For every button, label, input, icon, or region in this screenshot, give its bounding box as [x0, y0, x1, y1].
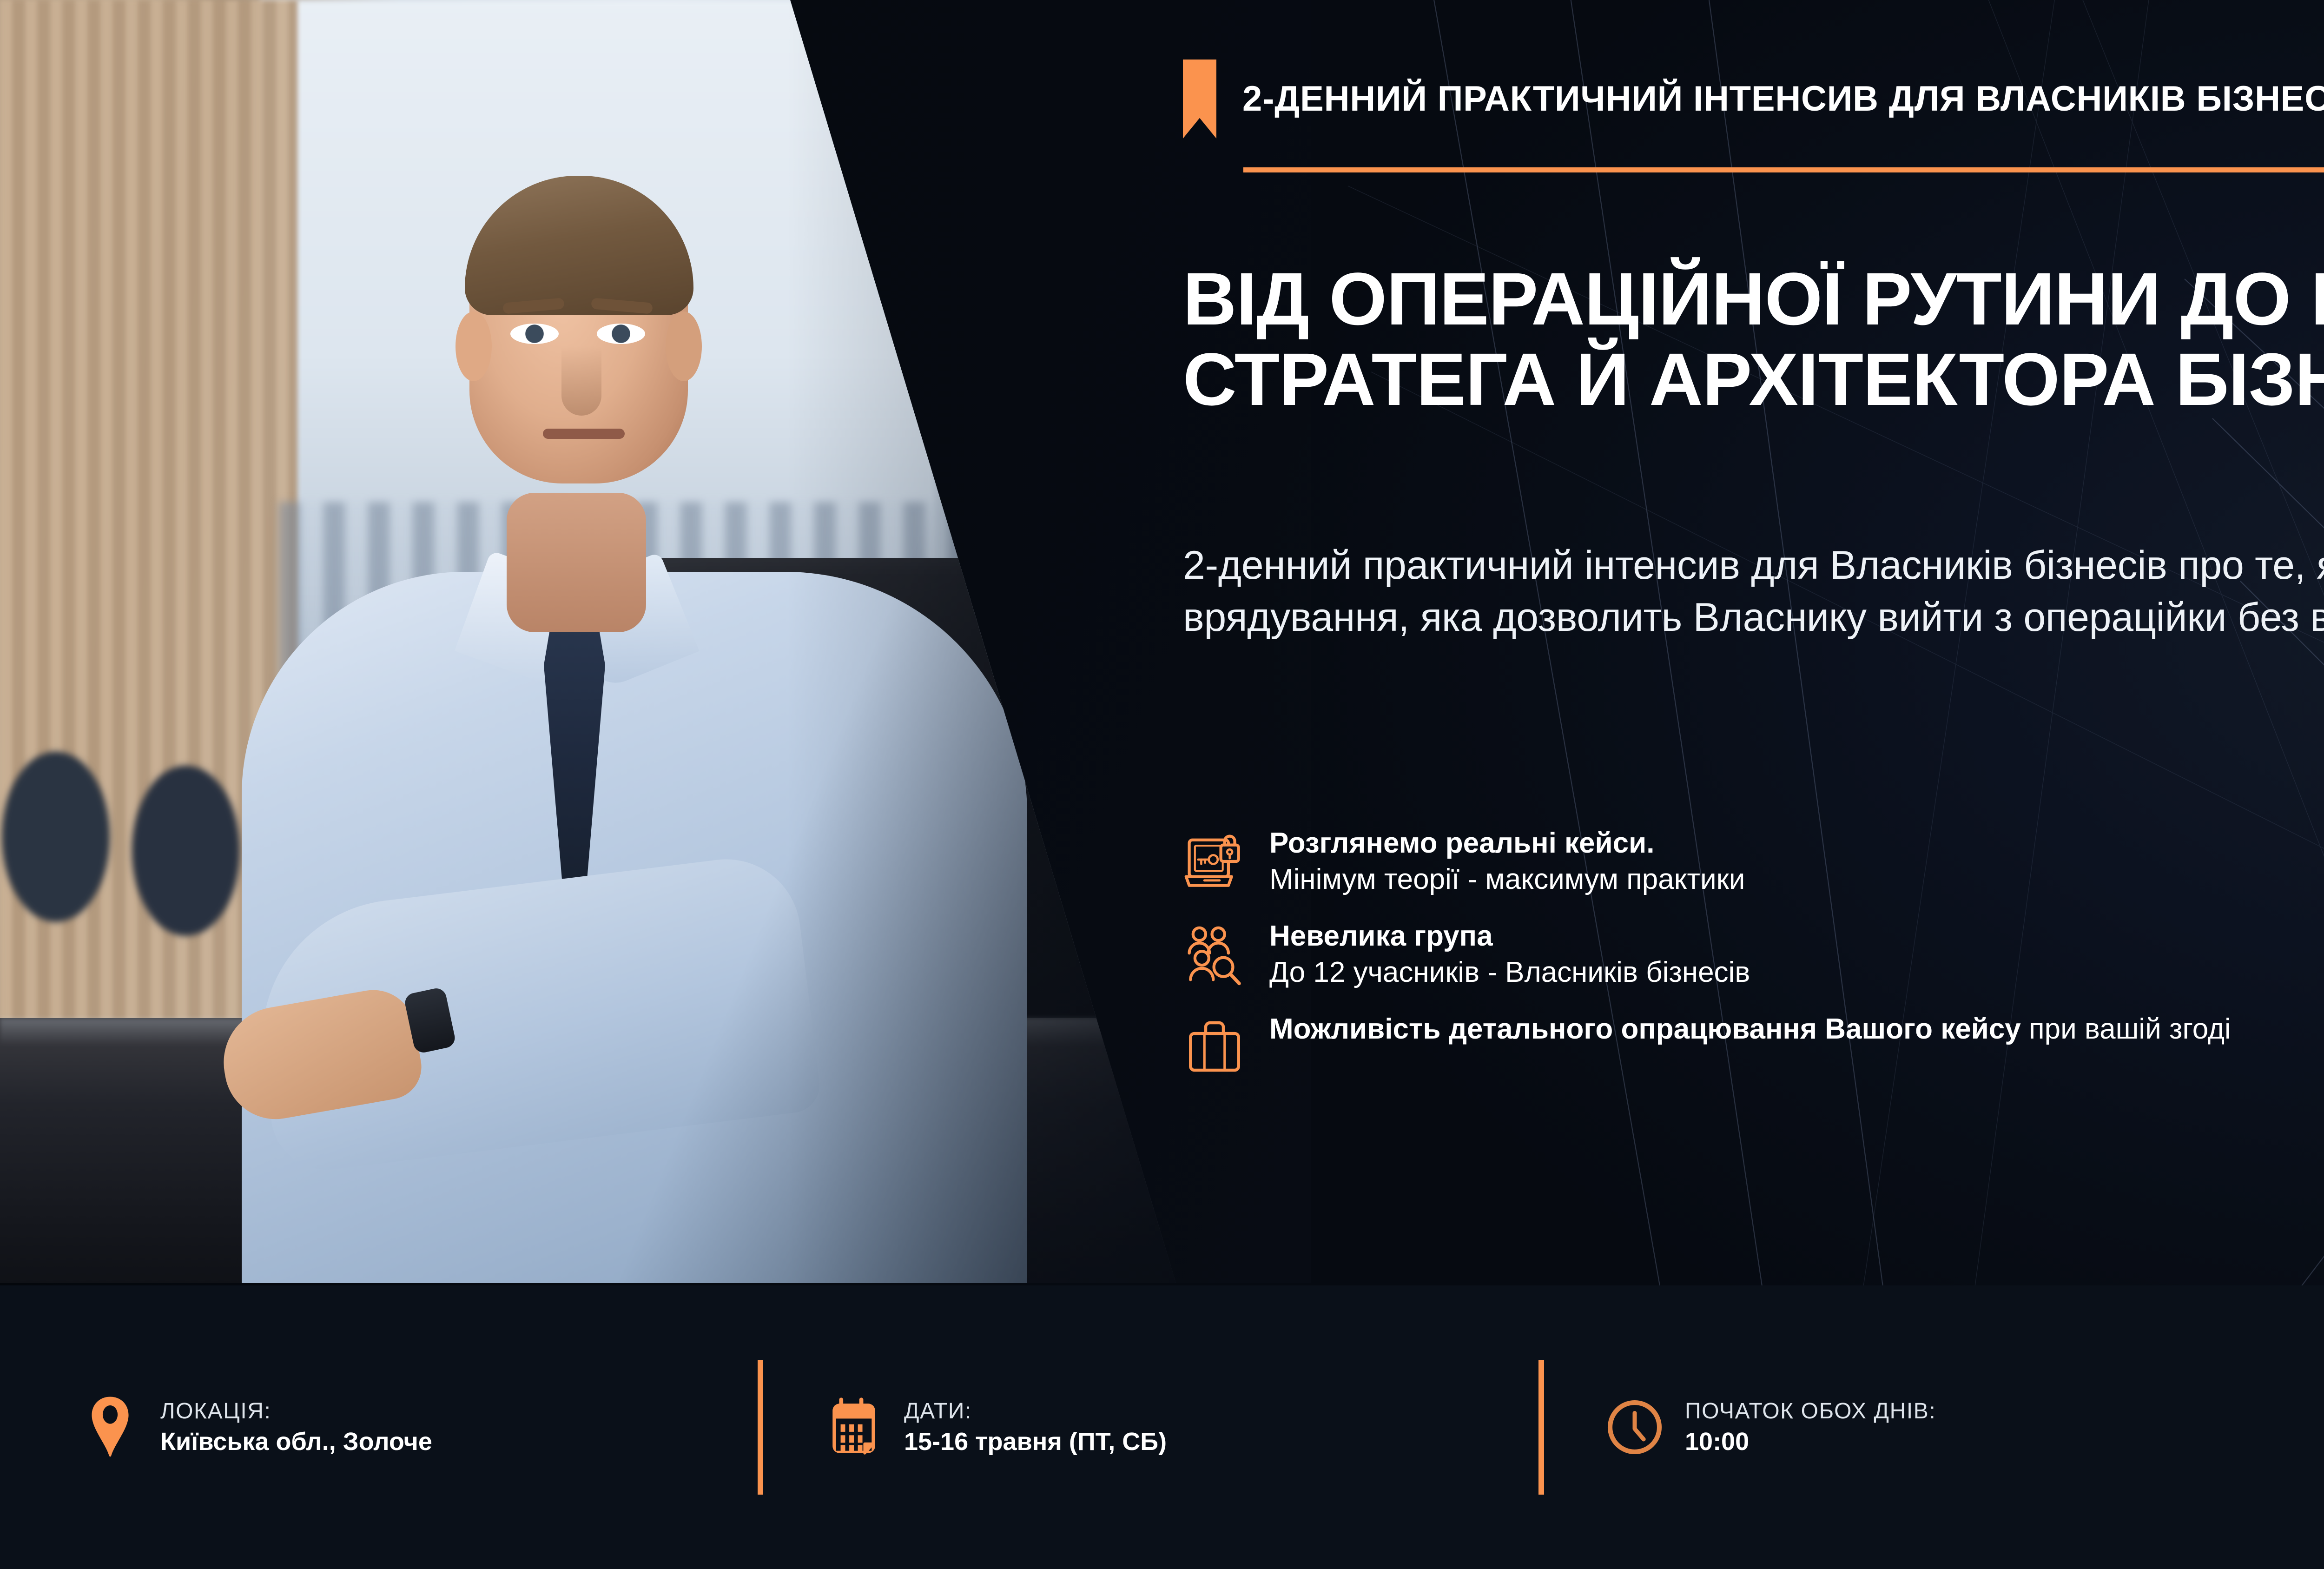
- feature-text: Можливість детального опрацювання Вашого…: [1269, 1011, 2231, 1047]
- footer-bar: ЛОКАЦІЯ: Київська обл., Золоче: [0, 1285, 2324, 1569]
- feature-title: Можливість детального опрацювання Вашого…: [1269, 1013, 2021, 1045]
- lede-paragraph: 2-денний практичний інтенсив для Власник…: [1183, 540, 2324, 644]
- footer-divider: [1538, 1360, 1544, 1495]
- feature-item: Розглянемо реальні кейси. Мінімум теорії…: [1183, 825, 2324, 898]
- feature-item: Можливість детального опрацювання Вашого…: [1183, 1011, 2324, 1079]
- headline-line-2: СТРАТЕГА Й АРХІТЕКТОРА БІЗНЕСУ: [1183, 339, 2324, 420]
- location-pin-icon: [81, 1396, 139, 1459]
- meta-label: ДАТИ:: [904, 1400, 1167, 1423]
- meta-value: Київська обл., Золоче: [160, 1429, 432, 1454]
- meta-label: ЛОКАЦІЯ:: [160, 1400, 432, 1423]
- content-column: 2-ДЕННИЙ ПРАКТИЧНИЙ ІНТЕНСИВ ДЛЯ ВЛАСНИК…: [1183, 0, 2324, 1288]
- feature-title: Розглянемо реальні кейси.: [1269, 827, 1654, 859]
- feature-list: Розглянемо реальні кейси. Мінімум теорії…: [1183, 825, 2324, 1079]
- meta-value: 15-16 травня (ПТ, СБ): [904, 1429, 1167, 1454]
- meta-dates: ДАТИ: 15-16 травня (ПТ, СБ): [825, 1285, 1167, 1569]
- footer-divider: [758, 1360, 763, 1495]
- eyebrow: 2-ДЕННИЙ ПРАКТИЧНИЙ ІНТЕНСИВ ДЛЯ ВЛАСНИК…: [1183, 60, 2324, 139]
- briefcase-icon: [1183, 1016, 1246, 1079]
- feature-item: Невелика група До 12 учасників - Власник…: [1183, 918, 2324, 991]
- meta-value: 10:00: [1685, 1429, 1936, 1454]
- feature-text: Розглянемо реальні кейси. Мінімум теорії…: [1269, 825, 1745, 898]
- bookmark-icon: [1183, 60, 1216, 139]
- feature-title: Невелика група: [1269, 920, 1493, 952]
- page-title: ВІД ОПЕРАЦІЙНОЇ РУТИНИ ДО РОЛІ СТРАТЕГА …: [1183, 259, 2324, 420]
- meta-time: ПОЧАТОК ОБОХ ДНІВ: 10:00: [1606, 1285, 1936, 1569]
- clock-icon: [1606, 1396, 1664, 1459]
- feature-text: Невелика група До 12 учасників - Власник…: [1269, 918, 1750, 991]
- calendar-icon: [825, 1396, 883, 1459]
- meta-location: ЛОКАЦІЯ: Київська обл., Золоче: [81, 1285, 432, 1569]
- promo-banner: 2-ДЕННИЙ ПРАКТИЧНИЙ ІНТЕНСИВ ДЛЯ ВЛАСНИК…: [0, 0, 2324, 1569]
- feature-subtitle: при вашій згоді: [2021, 1013, 2231, 1045]
- feature-subtitle: Мінімум теорії - максимум практики: [1269, 861, 1745, 898]
- eyebrow-divider: [1243, 167, 2324, 172]
- group-search-icon: [1183, 923, 1246, 986]
- meta-label: ПОЧАТОК ОБОХ ДНІВ:: [1685, 1400, 1936, 1423]
- eyebrow-label: 2-ДЕННИЙ ПРАКТИЧНИЙ ІНТЕНСИВ ДЛЯ ВЛАСНИК…: [1242, 81, 2324, 117]
- feature-subtitle: До 12 учасників - Власників бізнесів: [1269, 954, 1750, 991]
- headline-line-1: ВІД ОПЕРАЦІЙНОЇ РУТИНИ ДО РОЛІ: [1183, 259, 2324, 339]
- laptop-lock-key-icon: [1183, 830, 1246, 893]
